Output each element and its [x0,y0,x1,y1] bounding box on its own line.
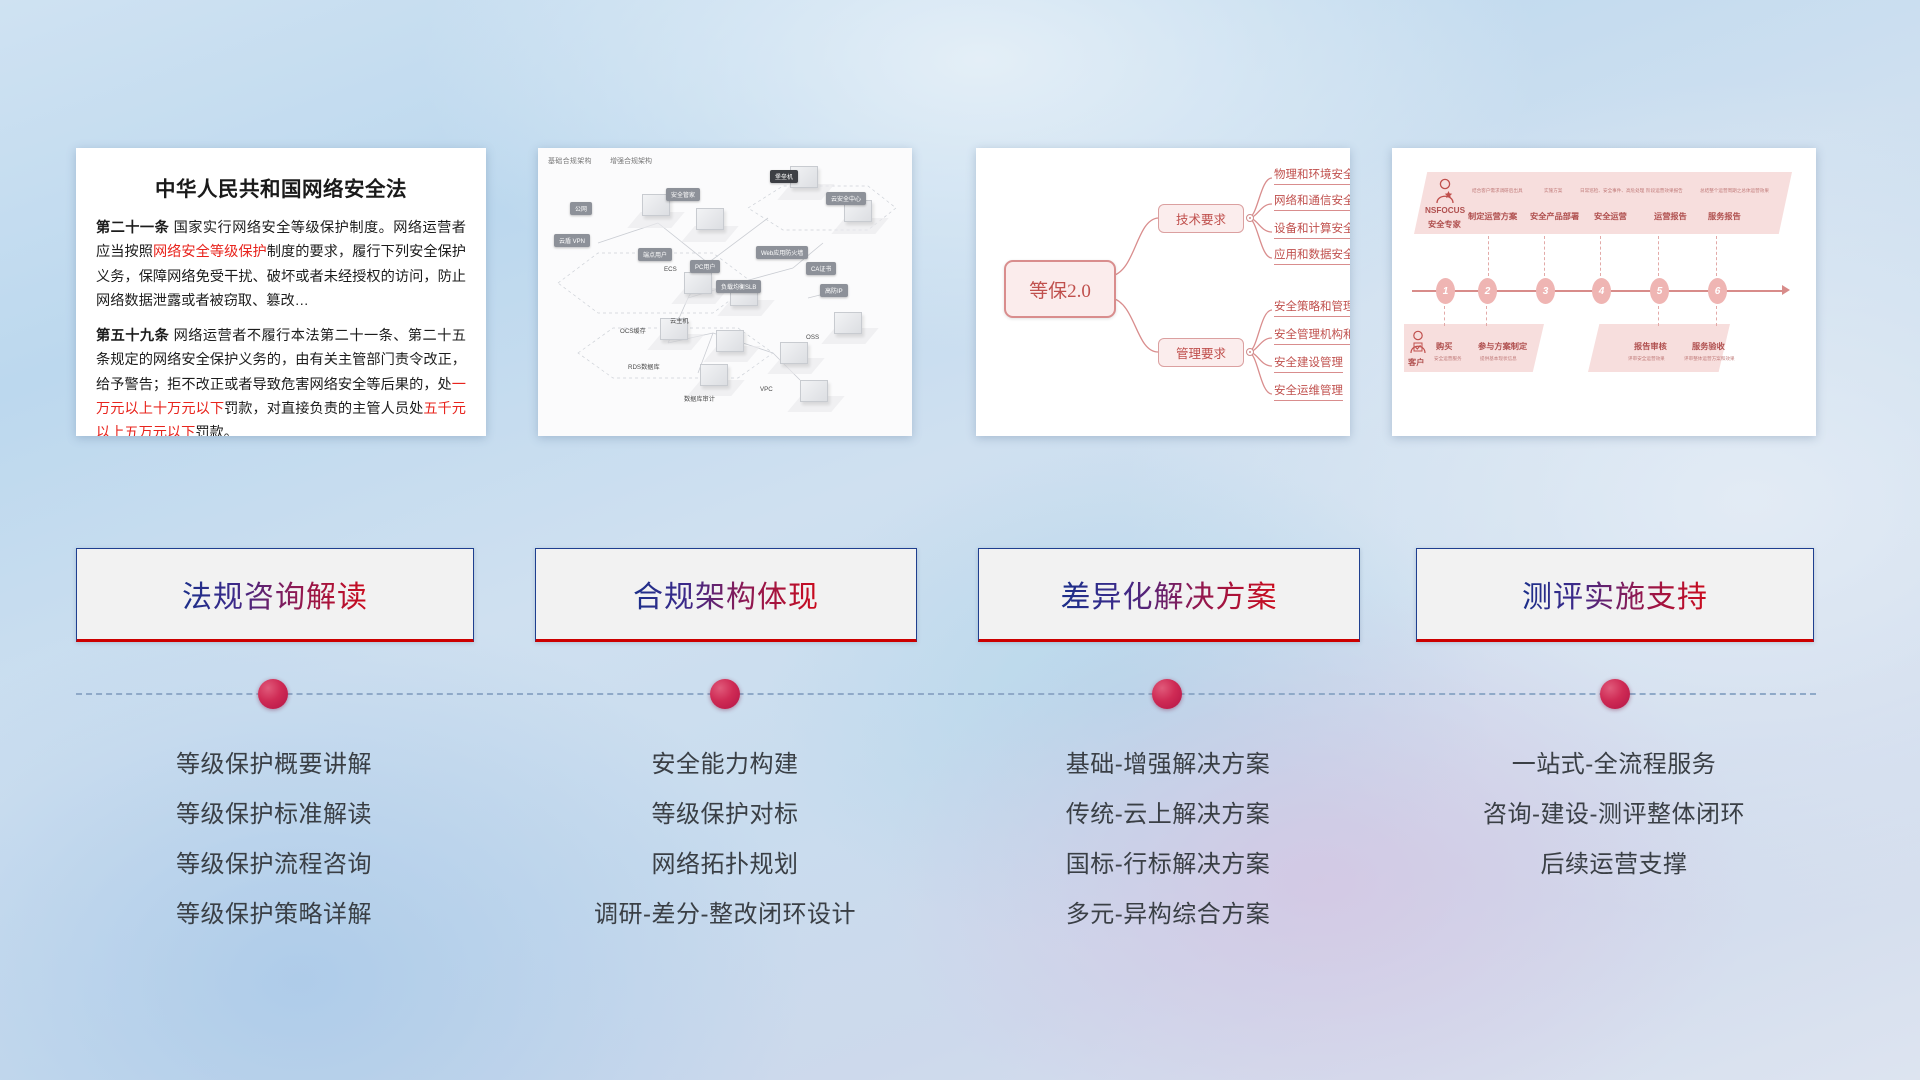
list-item: 基础-增强解决方案 [978,740,1358,790]
arch-node-waf: Web应用防火墙 [756,246,808,259]
law-card-title: 中华人民共和国网络安全法 [96,172,466,202]
list-item: 传统-云上解决方案 [978,790,1358,840]
mindmap-leaf: 安全管理机构和人员 [1274,326,1350,345]
mindmap-root-node: 等保2.0 [1004,260,1116,318]
process-top-title: 安全产品部署 [1530,210,1579,222]
mindmap-leaf: 网络和通信安全 [1274,192,1350,211]
process-bottom-title: 参与方案制定 [1478,340,1527,352]
arch-node-slb: 负载均衡SLB [716,280,761,293]
law-article-21-label: 第二十一条 [96,220,169,236]
detail-column-regulation-consulting: 等级保护概要讲解 等级保护标准解读 等级保护流程咨询 等级保护策略详解 [76,740,472,940]
headline-row: 法规咨询解读 合规架构体现 差异化解决方案 测评实施支持 [0,548,1920,640]
headline-label: 合规架构体现 [633,572,819,616]
arch-node-ecs: ECS [664,266,677,273]
process-customer-label: 客户 [1408,356,1424,368]
cloud-architecture-card: 基础合规架构 增强合规架构 [538,148,912,436]
process-top-desc: 日常巡检、安全事件、高危处理 [1580,188,1644,194]
process-step-marker: 3 [1536,278,1555,304]
mindmap-leaf: 设备和计算安全 [1274,220,1350,239]
law-article-21: 第二十一条 国家实行网络安全等级保护制度。网络运营者应当按照网络安全等级保护制度… [96,216,466,314]
list-item: 多元-异构综合方案 [978,890,1358,940]
arch-node-ca-cert: CA证书 [806,262,836,275]
list-item: 安全能力构建 [535,740,915,790]
list-item: 后续运营支撑 [1416,840,1812,890]
process-top-title: 安全运营 [1594,210,1627,222]
list-item: 网络拓扑规划 [535,840,915,890]
slide-background: 中华人民共和国网络安全法 第二十一条 国家实行网络安全等级保护制度。网络运营者应… [0,0,1920,1080]
headline-label: 测评实施支持 [1522,572,1708,616]
mindmap-collapse-dot-technical[interactable] [1246,214,1254,222]
mindmap-leaf: 安全建设管理 [1274,354,1343,373]
list-item: 一站式-全流程服务 [1416,740,1812,790]
process-brand-sub: 安全专家 [1428,218,1461,230]
process-top-desc: 总结整个运营周期之总体运营效果 [1700,188,1769,194]
process-bottom-title: 购买 [1436,340,1452,352]
arch-node-cloud-host: 云主机 [670,316,689,325]
arch-node-vpc: VPC [760,386,773,393]
process-top-desc: 实施方案 [1544,188,1562,194]
list-item: 等级保护标准解读 [76,790,472,840]
customer-person-icon [1408,330,1428,354]
arch-node-endpoint-user: 端点用户 [638,248,672,261]
arch-node-rds: RDS数据库 [628,362,660,371]
law-article-59-text-2: 罚款，对直接负责的主管人员处 [224,401,423,417]
law-text-card: 中华人民共和国网络安全法 第二十一条 国家实行网络安全等级保护制度。网络运营者应… [76,148,486,436]
timeline-dot-2[interactable] [710,679,740,709]
process-top-banner [1414,172,1792,234]
headline-box-assessment-support[interactable]: 测评实施支持 [1416,548,1814,642]
process-bottom-title: 服务验收 [1692,340,1725,352]
law-article-59-label: 第五十九条 [96,328,169,344]
list-item: 等级保护策略详解 [76,890,472,940]
process-step-marker: 6 [1708,278,1727,304]
mindmap-collapse-dot-management[interactable] [1246,348,1254,356]
mindmap-branch-technical: 技术要求 [1158,204,1244,233]
timeline-dot-4[interactable] [1600,679,1630,709]
arch-node-pc-user: PC用户 [690,260,720,273]
law-card-body: 中华人民共和国网络安全法 第二十一条 国家实行网络安全等级保护制度。网络运营者应… [76,148,486,436]
arch-node-ocs: OCS缓存 [620,326,646,335]
law-article-59: 第五十九条 网络运营者不履行本法第二十一条、第二十五条规定的网络安全保护义务的，… [96,324,466,436]
timeline-dashed-line [76,693,1816,695]
process-top-title: 运营报告 [1654,210,1687,222]
list-item: 咨询-建设-测评整体闭环 [1416,790,1812,840]
mindmap-branch-management: 管理要求 [1158,338,1244,367]
arch-node-db-audit: 数据库审计 [684,394,715,403]
arch-node-cloud-security-center: 云安全中心 [826,192,866,205]
list-item: 等级保护概要讲解 [76,740,472,790]
process-bottom-title: 报告审核 [1634,340,1667,352]
list-item: 等级保护对标 [535,790,915,840]
dengbao-mindmap: 等保2.0 技术要求 管理要求 物理和环境安全 网络和通信安全 设备和计算安全 … [976,148,1350,436]
process-timeline-card: NSFOCUS 安全专家 结合客户需求调研后出具 制定运营方案 实施方案 安全产… [1392,148,1816,436]
timeline-dot-3[interactable] [1152,679,1182,709]
arch-node-security-butler: 安全管家 [666,188,700,201]
process-bottom-desc: 安全运营服务 [1434,356,1462,362]
timeline-dot-1[interactable] [258,679,288,709]
detail-column-compliance-architecture: 安全能力构建 等级保护对标 网络拓扑规划 调研-差分-整改闭环设计 [535,740,915,940]
list-item: 国标-行标解决方案 [978,840,1358,890]
process-bottom-desc: 评审安全运营效果 [1628,356,1665,362]
process-top-title: 服务报告 [1708,210,1741,222]
detail-column-differentiated-solution: 基础-增强解决方案 传统-云上解决方案 国标-行标解决方案 多元-异构综合方案 [978,740,1358,940]
process-top-desc: 结合客户需求调研后出具 [1472,188,1523,194]
detail-list-row: 等级保护概要讲解 等级保护标准解读 等级保护流程咨询 等级保护策略详解 安全能力… [0,740,1920,980]
arch-node-cloud-vpn: 云盾 VPN [554,234,590,247]
timeline-strip [0,660,1920,740]
process-axis-arrow-icon [1782,285,1790,295]
process-top-desc: 阶段运营效果报告 [1646,188,1683,194]
law-article-59-text-3: 罚款。 [195,425,238,436]
headline-box-differentiated-solution[interactable]: 差异化解决方案 [978,548,1360,642]
mindmap-leaf: 安全策略和管理制度 [1274,298,1350,317]
list-item: 等级保护流程咨询 [76,840,472,890]
mindmap-leaf: 物理和环境安全 [1274,166,1350,185]
process-step-marker: 5 [1650,278,1669,304]
process-step-marker: 4 [1592,278,1611,304]
cloud-architecture-diagram: 基础合规架构 增强合规架构 [538,148,912,436]
image-card-row: 中华人民共和国网络安全法 第二十一条 国家实行网络安全等级保护制度。网络运营者应… [0,148,1920,443]
process-top-title: 制定运营方案 [1468,210,1517,222]
arch-node-oss: OSS [806,334,819,341]
headline-label: 法规咨询解读 [182,572,368,616]
list-item: 调研-差分-整改闭环设计 [535,890,915,940]
process-bottom-desc: 评审整体运营方案和效果 [1684,356,1735,362]
process-step-marker: 2 [1478,278,1497,304]
headline-box-compliance-architecture[interactable]: 合规架构体现 [535,548,917,642]
mindmap-leaf: 应用和数据安全 [1274,246,1350,265]
headline-label: 差异化解决方案 [1061,572,1278,616]
mindmap-leaf: 安全运维管理 [1274,382,1343,401]
arch-node-public-network: 公网 [570,202,592,215]
expert-person-icon [1434,178,1456,204]
detail-column-assessment-support: 一站式-全流程服务 咨询-建设-测评整体闭环 后续运营支撑 [1416,740,1812,890]
process-bottom-desc: 提供基本现状信息 [1480,356,1517,362]
process-step-marker: 1 [1436,278,1455,304]
arch-node-bastion: 堡垒机 [770,170,798,183]
arch-node-anti-ddos: 高防IP [820,284,848,297]
headline-box-regulation-consulting[interactable]: 法规咨询解读 [76,548,474,642]
law-article-21-highlight: 网络安全等级保护 [153,244,267,260]
process-brand-name: NSFOCUS [1425,206,1465,215]
operations-process-diagram: NSFOCUS 安全专家 结合客户需求调研后出具 制定运营方案 实施方案 安全产… [1392,148,1816,436]
mindmap-card: 等保2.0 技术要求 管理要求 物理和环境安全 网络和通信安全 设备和计算安全 … [976,148,1350,436]
